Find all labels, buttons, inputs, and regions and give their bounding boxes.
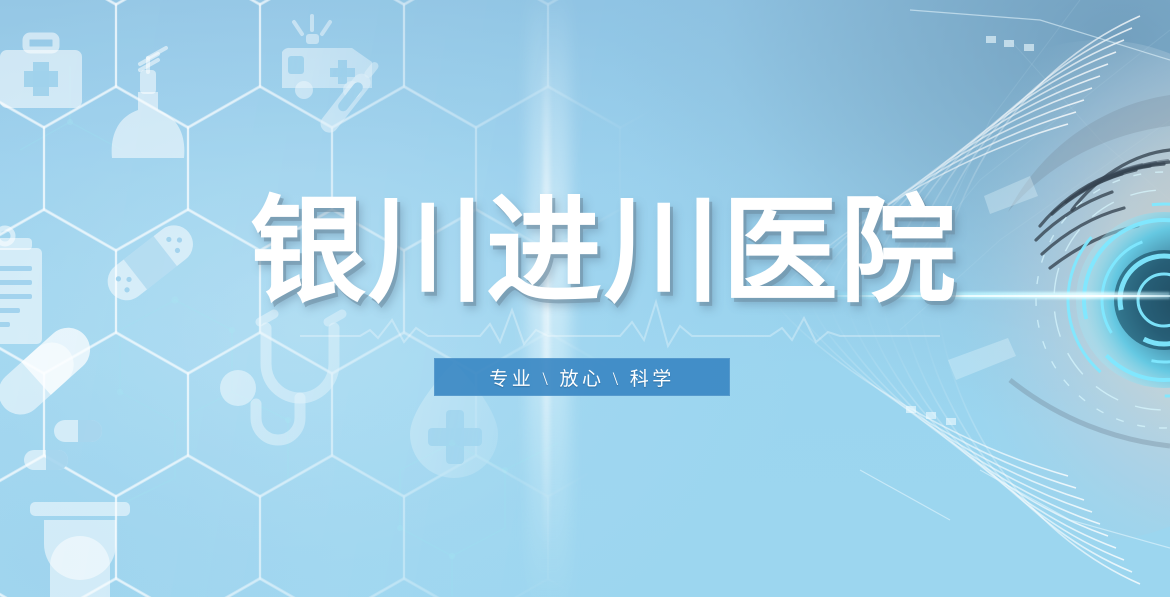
banner-content: 银川进川医院 专业 \ 放心 \ 科学 xyxy=(0,0,1170,597)
hospital-banner: 银川进川医院 专业 \ 放心 \ 科学 xyxy=(0,0,1170,597)
hospital-name-title: 银川进川医院 xyxy=(250,193,950,309)
tagline-text: 专业 \ 放心 \ 科学 xyxy=(489,364,675,391)
tagline-bar: 专业 \ 放心 \ 科学 xyxy=(434,358,730,396)
